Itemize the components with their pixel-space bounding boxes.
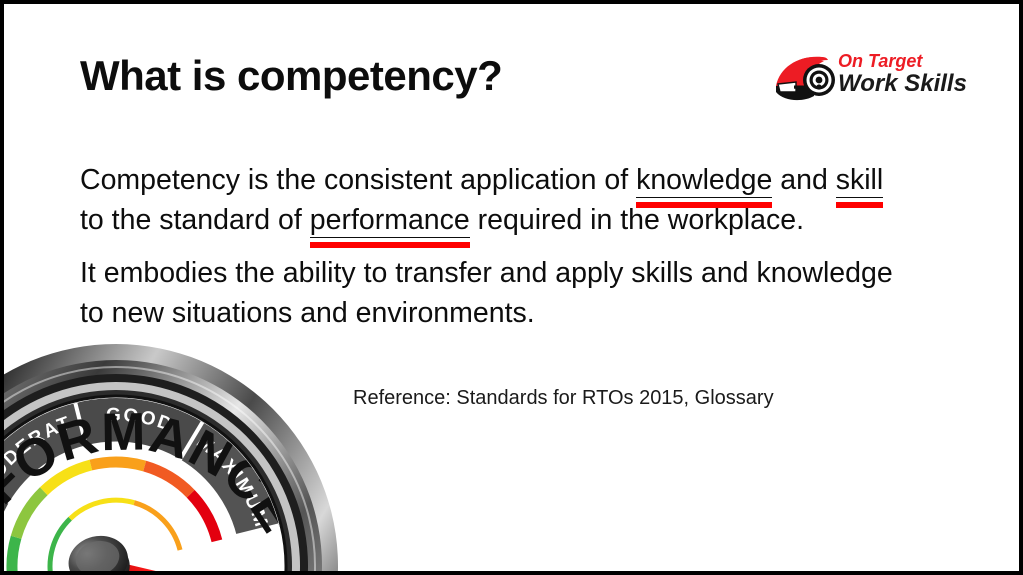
text-fragment: to the standard of xyxy=(80,204,310,236)
brand-logo: On Target Work Skills xyxy=(770,48,970,108)
reference-citation: Reference: Standards for RTOs 2015, Glos… xyxy=(353,387,774,410)
term-skill: skill xyxy=(836,164,884,198)
text-fragment: required in the workplace. xyxy=(470,204,804,236)
text-fragment: and xyxy=(772,164,835,196)
paragraph-definition-line-2: to the standard of performance required … xyxy=(80,200,980,240)
paragraph-definition: Competency is the consistent application… xyxy=(80,160,980,240)
paragraph-definition-line-1: Competency is the consistent application… xyxy=(80,160,980,200)
logo-line-work-skills: Work Skills xyxy=(838,72,967,96)
text-fragment: Competency is the consistent application… xyxy=(80,164,636,196)
term-performance: performance xyxy=(310,204,470,238)
slide-canvas: What is competency? xyxy=(0,0,1023,575)
term-knowledge: knowledge xyxy=(636,164,772,198)
target-dart-icon xyxy=(770,52,842,104)
paragraph-transfer-line-1: It embodies the ability to transfer and … xyxy=(80,253,980,293)
logo-line-on-target: On Target xyxy=(838,52,967,70)
logo-wordmark: On Target Work Skills xyxy=(838,52,967,96)
page-title: What is competency? xyxy=(80,52,502,100)
